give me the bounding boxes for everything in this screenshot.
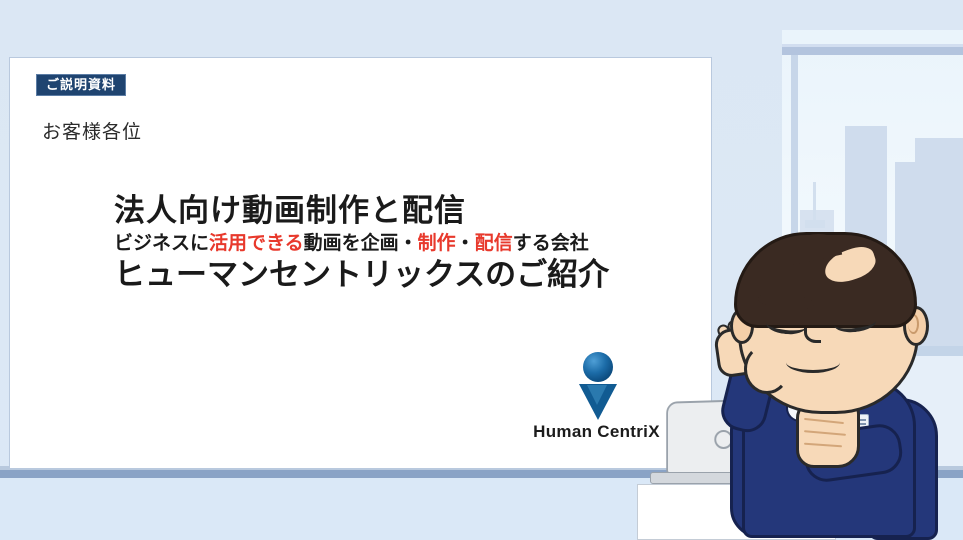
subtitle-segment-highlight: 配信 [475,233,513,254]
logo-wordmark: Human CentriX [529,422,664,442]
headline-company-name: ヒューマンセントリックスのご紹介 [114,258,674,292]
skyline-tower-mast [813,182,816,222]
subtitle-segment: ビジネスに [114,233,209,254]
headline-main-title: 法人向け動画制作と配信 [114,194,674,228]
addressee-text: お客様各位 [42,117,142,144]
subtitle-segment-highlight: 制作 [418,233,456,254]
headline-subtitle: ビジネスに活用できる動画を企画・制作・配信する会社 [114,234,674,255]
company-logo: Human CentriX [529,352,664,442]
headline-block: 法人向け動画制作と配信 ビジネスに活用できる動画を企画・制作・配信する会社 ヒュ… [114,194,674,292]
triangle-highlight-icon [587,385,607,405]
cheek [744,344,790,394]
document-type-badge: ご説明資料 [36,74,126,96]
subtitle-segment-highlight: 活用できる [209,233,304,254]
subtitle-segment: 動画を企画・ [304,233,418,254]
businessman-illustration [700,232,963,540]
presentation-slide: ご説明資料 お客様各位 法人向け動画制作と配信 ビジネスに活用できる動画を企画・… [0,0,963,540]
sphere-and-triangle-logo-icon [529,352,664,420]
mouth [786,352,840,373]
sphere-icon [583,352,613,382]
skyline-tower-cap [805,220,825,228]
window-frame-horizontal [782,47,963,55]
subtitle-segment: ・ [456,233,475,254]
subtitle-segment: する会社 [513,233,589,254]
